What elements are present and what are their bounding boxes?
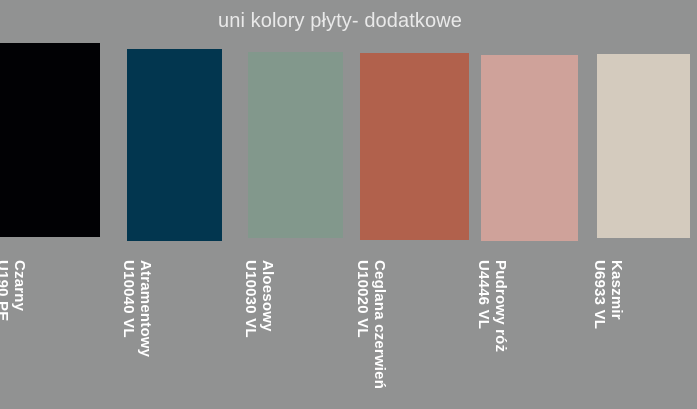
swatch-code: U6933 VL <box>591 260 608 329</box>
color-swatch[interactable] <box>597 54 690 238</box>
swatch-item: KaszmirU6933 VL <box>0 0 697 409</box>
swatch-caption: KaszmirU6933 VL <box>591 260 625 329</box>
color-palette-board: uni kolory płyty- dodatkowe CzarnyU190 P… <box>0 0 697 409</box>
swatch-name: Kaszmir <box>608 260 625 329</box>
